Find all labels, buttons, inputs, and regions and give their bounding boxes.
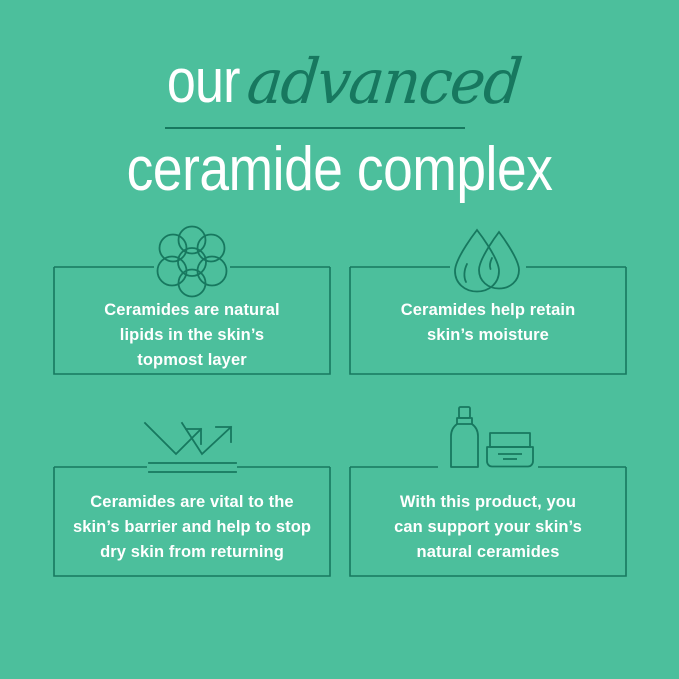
title-line-1: ouradvanced [0,46,679,118]
card-text-line: Ceramides are natural [53,298,331,323]
info-card-support-natural-ceramides: With this product, you can support your … [349,466,627,577]
info-card-ceramides-retain-moisture: Ceramides help retain skin’s moisture [349,266,627,375]
card-text-block: Ceramides help retain skin’s moisture [349,298,627,348]
card-text-line: topmost layer [53,348,331,373]
title-line-2-text: ceramide complex [127,133,553,207]
title-word-our: our [167,46,240,118]
card-text-line: With this product, you [349,490,627,515]
info-card-ceramides-natural-lipids: Ceramides are natural lipids in the skin… [53,266,331,375]
card-text-line: Ceramides help retain [349,298,627,323]
card-text-line: dry skin from returning [53,540,331,565]
bottle-and-jar-icon [432,405,550,471]
title-word-advanced-script: advanced [244,46,524,118]
card-text-block: Ceramides are vital to the skin’s barrie… [53,490,331,565]
card-text-line: skin’s barrier and help to stop [53,515,331,540]
info-card-ceramides-barrier: Ceramides are vital to the skin’s barrie… [53,466,331,577]
title-line-2: ceramide complex [0,133,679,207]
title-underline [165,127,465,129]
card-text-line: natural ceramides [349,540,627,565]
infographic-poster: ouradvanced ceramide complex Ceramides a… [0,0,679,679]
card-text-line: Ceramides are vital to the [53,490,331,515]
card-text-line: lipids in the skin’s [53,323,331,348]
card-text-line: skin’s moisture [349,323,627,348]
card-text-block: Ceramides are natural lipids in the skin… [53,298,331,373]
card-text-block: With this product, you can support your … [349,490,627,565]
page-title: ouradvanced [0,46,679,118]
card-text-line: can support your skin’s [349,515,627,540]
